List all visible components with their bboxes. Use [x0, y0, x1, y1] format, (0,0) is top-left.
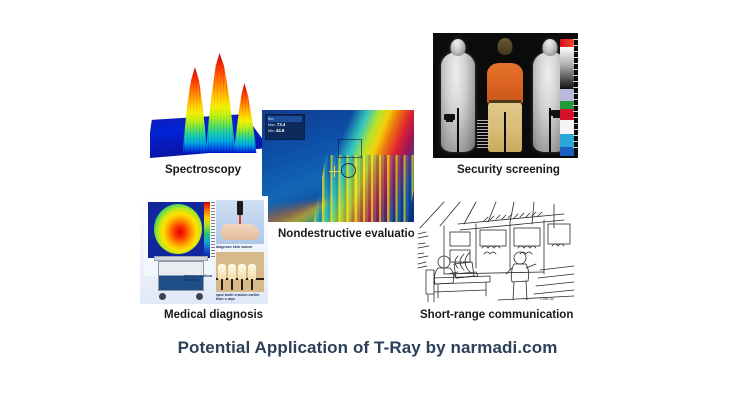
panel-short-range-communication: © ABC (D)	[414, 200, 576, 304]
thermal-fin-structures	[314, 155, 414, 222]
medical-caption-imaging: improve medical imaging	[184, 274, 214, 283]
scale-segment-red-top	[560, 39, 574, 47]
thermal-region-circle	[341, 163, 356, 178]
scale-segment-greyscale	[560, 47, 574, 89]
scale-segment-lavender	[560, 89, 574, 101]
tooth	[228, 264, 236, 280]
panel-medical-diagnosis: improve medical imaging diagnose skin ca…	[140, 196, 268, 304]
medical-caption-teeth: spot tooth erosion earlier than x-rays	[216, 293, 264, 302]
legend-min-value: 44.6	[276, 128, 285, 133]
tooth-root	[241, 279, 243, 290]
legend-max-value: 73.4	[277, 122, 286, 127]
sketch-credit: © ABC (D)	[540, 297, 554, 301]
figure-head	[451, 39, 466, 56]
medical-secondary-panels: diagnose skin cancer spot tooth erosion …	[216, 200, 264, 298]
panel-nondestructive-evaluation: Box Max. 73.4 Min. 44.6	[262, 110, 414, 222]
cart-wheel	[159, 293, 166, 300]
thermal-head-scan	[154, 204, 202, 254]
scanner-color-scale	[560, 39, 574, 152]
scanner-probe-icon	[237, 201, 243, 215]
figure-leg-gap	[457, 108, 459, 152]
panel-label-medical-diagnosis: Medical diagnosis	[164, 309, 263, 321]
communication-sketch: © ABC (D)	[414, 200, 576, 304]
scale-segment-white	[560, 120, 574, 134]
figure-head	[543, 39, 558, 56]
legend-max-label: Max.	[268, 123, 276, 127]
panel-label-short-range-communication: Short-range communication	[420, 309, 573, 321]
figure-belt	[489, 100, 521, 103]
scale-tick-marks	[573, 39, 578, 152]
medical-caption-skin: diagnose skin cancer	[216, 245, 262, 249]
thermal-region-box	[338, 139, 362, 158]
tooth-root	[221, 279, 223, 290]
tooth	[248, 264, 256, 280]
hand-illustration	[221, 224, 259, 240]
panel-label-nondestructive-evaluation: Nondestructive evaluation	[278, 228, 422, 240]
thermal-crosshair-marker	[329, 166, 340, 177]
thermal-colorbar	[204, 202, 210, 258]
tooth-root	[251, 279, 253, 290]
scale-segment-cyan	[560, 134, 574, 147]
medical-imaging-photo	[144, 200, 214, 276]
panel-security-screening	[433, 33, 578, 158]
scale-segment-blue	[560, 147, 574, 156]
scanned-figure	[441, 52, 475, 152]
tooth	[218, 264, 226, 280]
tooth	[238, 264, 246, 280]
tooth-root	[231, 279, 233, 290]
legend-min-label: Min.	[268, 129, 275, 133]
panel-label-spectroscopy: Spectroscopy	[165, 164, 241, 176]
scale-segment-green	[560, 101, 574, 109]
scale-segment-red	[560, 109, 574, 120]
scanner-annotation-text	[477, 120, 489, 148]
skin-cancer-illustration	[216, 200, 264, 244]
cart-wheel	[196, 293, 203, 300]
panel-label-security-screening: Security screening	[457, 164, 560, 176]
figure-head	[498, 38, 513, 55]
figure-caption: Potential Application of T-Ray by narmad…	[0, 338, 735, 358]
thermal-measurement-legend: Box Max. 73.4 Min. 44.6	[265, 114, 305, 140]
figure-leg-gap	[504, 112, 506, 152]
scanned-figure-clothed	[487, 51, 523, 152]
figure-shirt	[487, 63, 523, 103]
thermal-colorbar-ticks	[211, 202, 215, 258]
concealed-object-icon	[444, 114, 455, 120]
teeth-illustration	[216, 252, 264, 292]
figure-canvas: Spectroscopy Box Max. 73.4 Min. 44.6 Non…	[0, 0, 735, 413]
